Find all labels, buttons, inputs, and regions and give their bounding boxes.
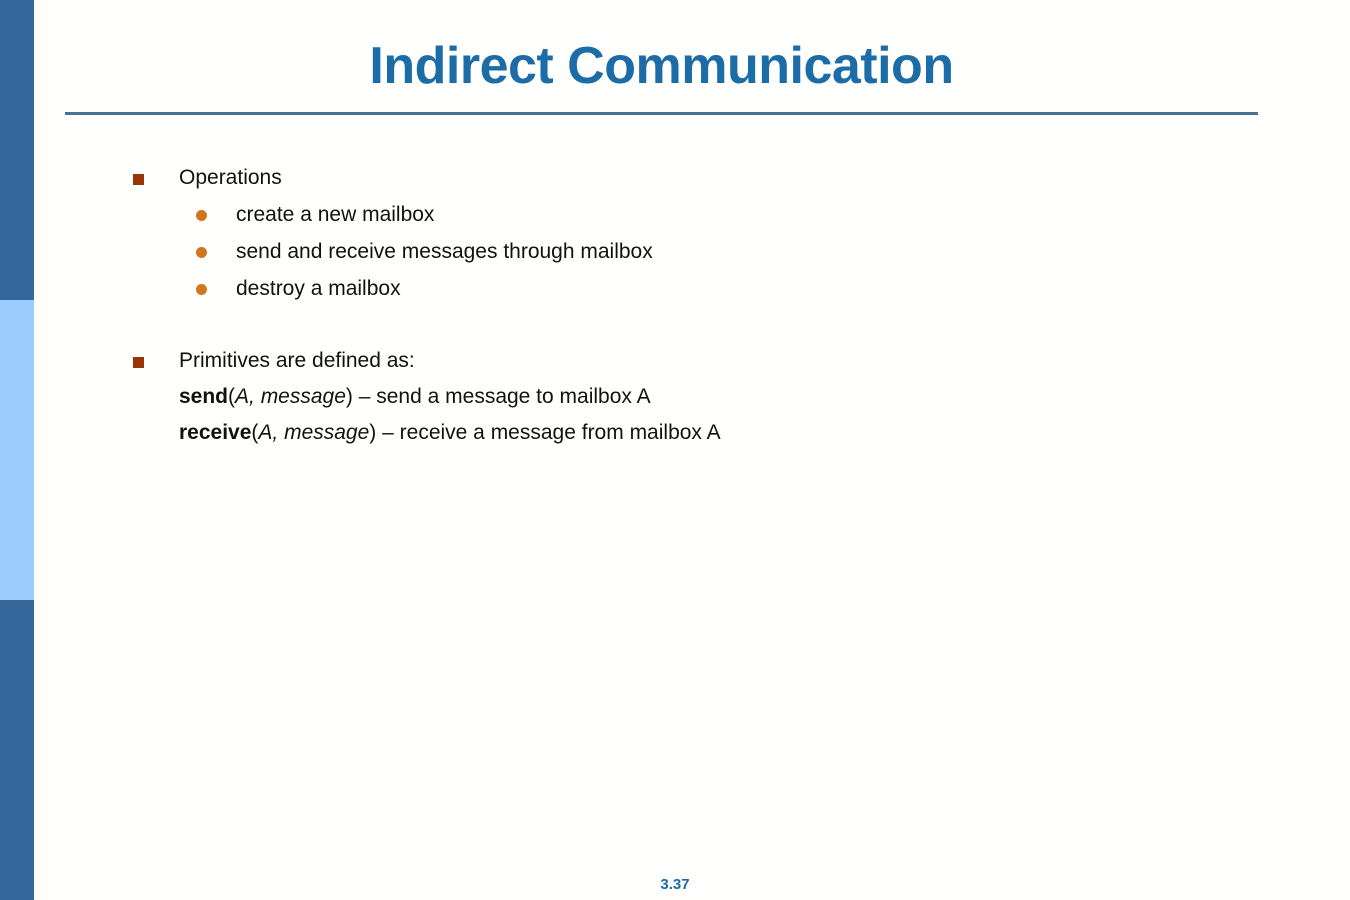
title-divider <box>65 112 1258 115</box>
primitive-receive-keyword: receive <box>179 421 251 444</box>
primitive-send-description: – send a message to mailbox A <box>353 385 651 408</box>
bullet-primitives-label: Primitives are defined as: <box>179 349 415 372</box>
slide-title: Indirect Communication <box>65 38 1258 95</box>
bullet-primitives: Primitives are defined as: <box>0 343 1350 379</box>
section-spacer <box>0 307 1350 343</box>
page-number: 3.37 <box>0 876 1350 893</box>
sub-bullet-send-receive: send and receive messages through mailbo… <box>0 233 1350 270</box>
dot-bullet-icon <box>196 210 207 221</box>
sub-bullet-create-mailbox: create a new mailbox <box>0 196 1350 233</box>
primitive-receive-line: receive(A, message) – receive a message … <box>0 415 1350 451</box>
sub-bullet-label: send and receive messages through mailbo… <box>236 240 653 263</box>
primitive-receive-description: – receive a message from mailbox A <box>376 421 720 444</box>
primitive-send-line: send(A, message) – send a message to mai… <box>0 379 1350 415</box>
dot-bullet-icon <box>196 247 207 258</box>
bullet-operations-label: Operations <box>179 166 282 189</box>
slide-body: Operations create a new mailbox send and… <box>0 160 1350 451</box>
sub-bullet-label: destroy a mailbox <box>236 277 401 300</box>
primitive-send-keyword: send <box>179 385 228 408</box>
primitive-send-close-paren: ) <box>346 385 353 408</box>
primitive-send-args: A, message <box>235 385 346 408</box>
primitive-send-open-paren: ( <box>228 385 235 408</box>
sub-bullet-label: create a new mailbox <box>236 203 434 226</box>
primitive-receive-args: A, message <box>258 421 369 444</box>
square-bullet-icon <box>133 357 144 368</box>
square-bullet-icon <box>133 174 144 185</box>
sidebar-band-bottom <box>0 600 34 900</box>
dot-bullet-icon <box>196 284 207 295</box>
bullet-operations: Operations <box>0 160 1350 196</box>
sub-bullet-destroy-mailbox: destroy a mailbox <box>0 270 1350 307</box>
slide-canvas: Indirect Communication Operations create… <box>0 0 1350 900</box>
